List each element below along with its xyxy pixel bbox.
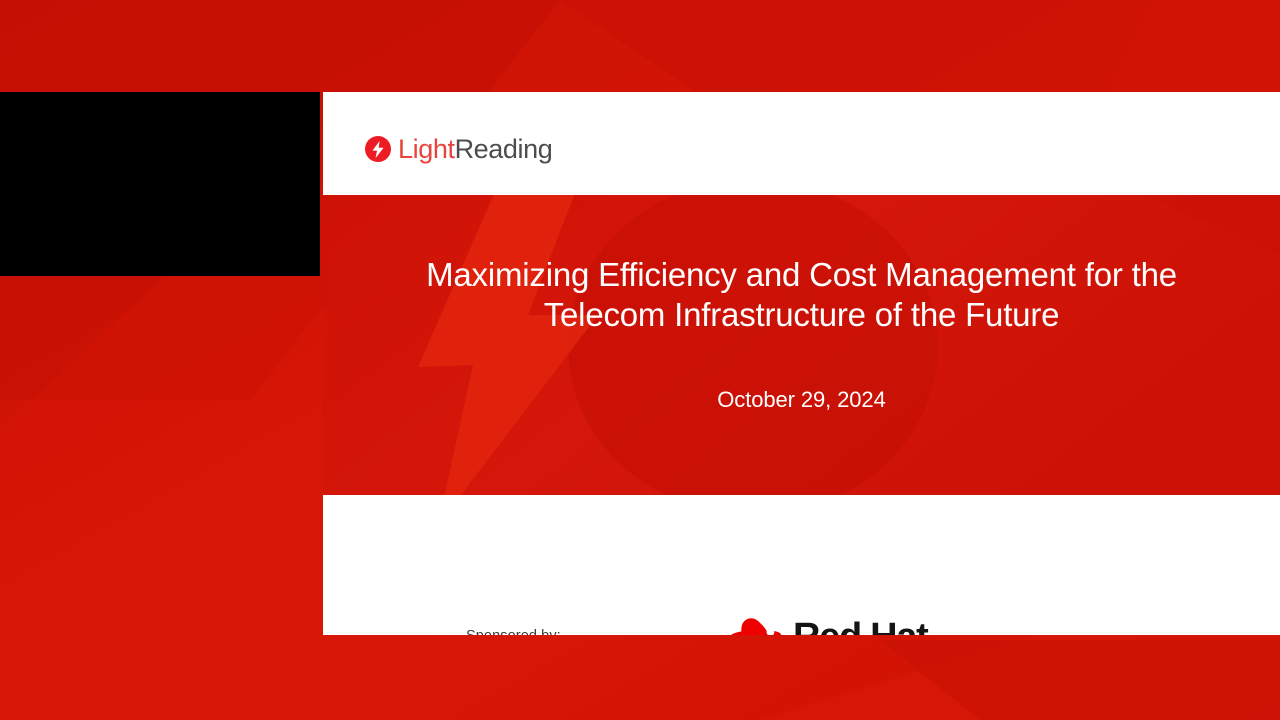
logo-word-reading: Reading [455,136,553,163]
hero-watermark-art [323,195,1280,495]
sponsor-area: Sponsored by: Red Hat Information Classi… [323,495,1280,635]
slide-header: LightReading [323,92,1280,195]
presentation-stage: LightReading Maximizing Efficiency and C… [0,0,1280,720]
hero-banner: Maximizing Efficiency and Cost Managemen… [323,195,1280,495]
slide-card: LightReading Maximizing Efficiency and C… [323,92,1280,635]
lightreading-logo[interactable]: LightReading [365,132,552,166]
lightning-bolt-glyph [371,141,385,158]
red-hat-wordmark: Red Hat [793,618,927,635]
red-hat-fedora-icon [721,614,783,635]
video-placeholder[interactable] [0,92,320,276]
sponsored-by-label: Sponsored by: [466,628,561,635]
hero-date: October 29, 2024 [363,387,1240,413]
lightning-bolt-icon [365,136,391,162]
hero-title: Maximizing Efficiency and Cost Managemen… [363,255,1240,334]
logo-word-light: Light [398,136,455,163]
red-hat-logo[interactable]: Red Hat [721,608,927,635]
